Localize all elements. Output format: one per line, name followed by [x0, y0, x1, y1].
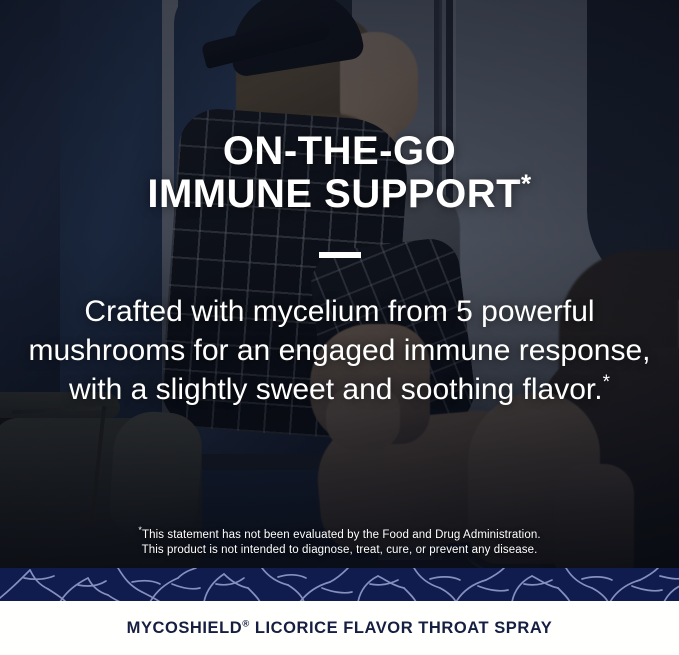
fda-disclaimer: *This statement has not been evaluated b… — [0, 528, 679, 558]
hero-headline-asterisk: * — [521, 169, 532, 199]
mycelium-pattern-band — [0, 568, 679, 601]
registered-trademark-icon: ® — [242, 618, 250, 629]
hero-divider-rule — [319, 252, 361, 258]
hero-headline-line-1: ON-THE-GO — [0, 130, 679, 173]
footer-product-title: MYCOSHIELD® LICORICE FLAVOR THROAT SPRAY — [127, 619, 553, 638]
hero-copy: ON-THE-GO IMMUNE SUPPORT* Crafted with m… — [0, 0, 679, 568]
hero-headline-line-2: IMMUNE SUPPORT* — [0, 173, 679, 216]
product-lifestyle-banner: ON-THE-GO IMMUNE SUPPORT* Crafted with m… — [0, 0, 679, 655]
fda-disclaimer-line-2: This product is not intended to diagnose… — [0, 543, 679, 558]
fda-disclaimer-line-1: *This statement has not been evaluated b… — [0, 528, 679, 543]
hero-photo: ON-THE-GO IMMUNE SUPPORT* Crafted with m… — [0, 0, 679, 568]
hero-body-line-2: mushrooms for an engaged immune response… — [0, 331, 679, 370]
hero-body-line-1: Crafted with mycelium from 5 powerful — [0, 292, 679, 331]
footer-brand-name: MYCOSHIELD — [127, 619, 243, 637]
hero-body-copy: Crafted with mycelium from 5 powerful mu… — [0, 292, 679, 409]
footer-product-descriptor: LICORICE FLAVOR THROAT SPRAY — [250, 619, 553, 637]
hero-headline: ON-THE-GO IMMUNE SUPPORT* — [0, 130, 679, 216]
fda-disclaimer-line-1-text: This statement has not been evaluated by… — [142, 529, 541, 541]
hero-body-line-3-text: with a slightly sweet and soothing flavo… — [69, 373, 603, 406]
hero-body-line-3: with a slightly sweet and soothing flavo… — [0, 370, 679, 409]
product-name-footer: MYCOSHIELD® LICORICE FLAVOR THROAT SPRAY — [0, 601, 679, 655]
hero-body-asterisk: * — [603, 372, 610, 393]
mycelium-branching-lines-icon — [0, 568, 679, 601]
hero-headline-line-2-text: IMMUNE SUPPORT — [147, 172, 521, 216]
